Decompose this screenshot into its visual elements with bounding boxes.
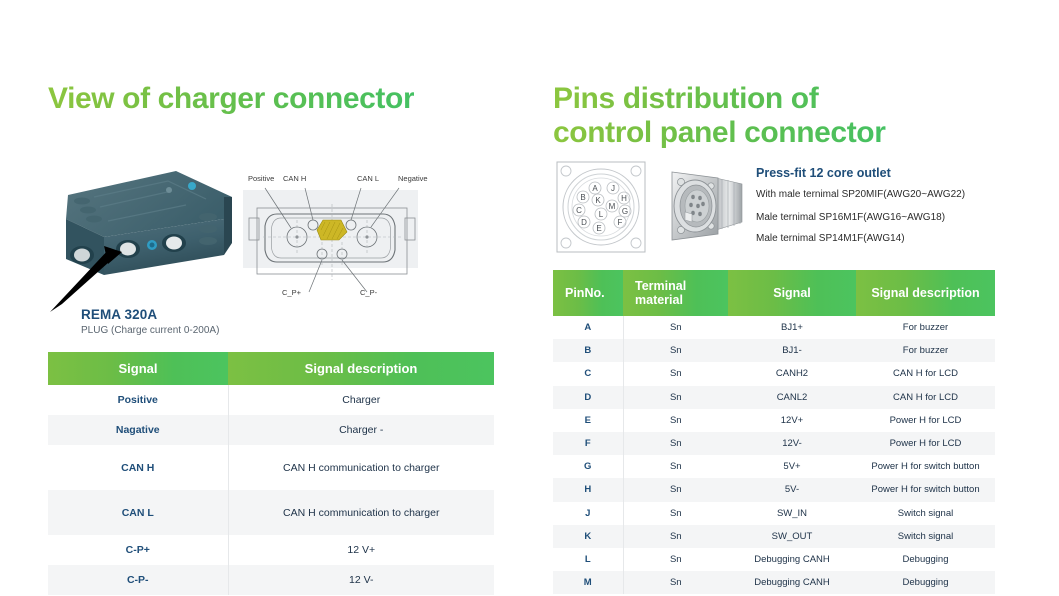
cell-signal: 12V+	[728, 409, 856, 432]
table-row: C Sn CANH2 CAN H for LCD	[553, 362, 995, 385]
cell-material: Sn	[623, 548, 728, 571]
cell-signal: CAN L	[48, 490, 228, 535]
drawing-label-negative: Negative	[398, 174, 428, 183]
table-row: A Sn BJ1+ For buzzer	[553, 316, 995, 339]
table-row: G Sn 5V+ Power H for switch button	[553, 455, 995, 478]
cell-description: For buzzer	[856, 316, 995, 339]
cell-signal: Nagative	[48, 415, 228, 445]
cell-material: Sn	[623, 339, 728, 362]
cell-signal: Debugging CANH	[728, 548, 856, 571]
cell-description: Power H for switch button	[856, 455, 995, 478]
col-header-pin-no: PinNo.	[553, 270, 623, 316]
svg-text:E: E	[596, 224, 601, 233]
cell-material: Sn	[623, 502, 728, 525]
table-header-row: Signal Signal description	[48, 352, 494, 385]
svg-text:F: F	[618, 218, 623, 227]
svg-text:A: A	[592, 184, 598, 193]
cell-description: Switch signal	[856, 502, 995, 525]
table-row: E Sn 12V+ Power H for LCD	[553, 409, 995, 432]
cell-pin-no: K	[553, 525, 623, 548]
pressfit-title: Press-fit 12 core outlet	[756, 166, 891, 180]
pressfit-line-2: Male ternimal SP16M1F(AWG16~AWG18)	[756, 212, 945, 223]
pressfit-line-3: Male ternimal SP14M1F(AWG14)	[756, 233, 905, 244]
control-panel-connector-photo	[662, 160, 754, 252]
table-header-row: PinNo. Terminal material Signal Signal d…	[553, 270, 995, 316]
cell-description: 12 V-	[228, 565, 494, 595]
cell-signal: BJ1+	[728, 316, 856, 339]
svg-text:B: B	[580, 193, 585, 202]
drawing-label-can-h: CAN H	[283, 174, 306, 183]
cell-signal: 5V-	[728, 478, 856, 501]
cell-material: Sn	[623, 478, 728, 501]
cell-description: CAN H communication to charger	[228, 490, 494, 535]
table-row: J Sn SW_IN Switch signal	[553, 502, 995, 525]
cell-pin-no: F	[553, 432, 623, 455]
cell-signal: 12V-	[728, 432, 856, 455]
cell-pin-no: C	[553, 362, 623, 385]
cell-pin-no: M	[553, 571, 623, 594]
svg-text:D: D	[581, 218, 587, 227]
table-row: L Sn Debugging CANH Debugging	[553, 548, 995, 571]
page-title-right: Pins distribution of control panel conne…	[553, 82, 886, 150]
cell-material: Sn	[623, 455, 728, 478]
cell-signal: 5V+	[728, 455, 856, 478]
control-panel-pin-layout-diagram: A J B H C G D F E K M L	[553, 158, 649, 256]
cell-signal: BJ1-	[728, 339, 856, 362]
cell-material: Sn	[623, 316, 728, 339]
cell-description: CAN H communication to charger	[228, 445, 494, 490]
table-row: B Sn BJ1- For buzzer	[553, 339, 995, 362]
cell-description: Power H for LCD	[856, 432, 995, 455]
connector-model-subtitle: PLUG (Charge current 0-200A)	[81, 325, 219, 336]
cell-description: 12 V+	[228, 535, 494, 565]
cell-description: Charger	[228, 385, 494, 415]
cell-material: Sn	[623, 432, 728, 455]
cell-pin-no: A	[553, 316, 623, 339]
drawing-label-can-l: CAN L	[357, 174, 379, 183]
cell-description: Switch signal	[856, 525, 995, 548]
svg-text:C: C	[576, 206, 582, 215]
cell-description: Debugging	[856, 548, 995, 571]
control-panel-pin-table: PinNo. Terminal material Signal Signal d…	[553, 270, 995, 594]
cell-material: Sn	[623, 362, 728, 385]
cell-description: Power H for switch button	[856, 478, 995, 501]
slide-root: View of charger connector Pins distribut…	[0, 0, 1059, 596]
drawing-label-cp-plus: C_P+	[282, 288, 301, 297]
svg-text:M: M	[609, 202, 616, 211]
drawing-label-cp-minus: C_P-	[360, 288, 377, 297]
cell-description: Debugging	[856, 571, 995, 594]
cell-pin-no: L	[553, 548, 623, 571]
col-header-signal-description: Signal description	[856, 270, 995, 316]
table-row: F Sn 12V- Power H for LCD	[553, 432, 995, 455]
svg-text:J: J	[611, 184, 615, 193]
cell-pin-no: G	[553, 455, 623, 478]
cell-description: CAN H for LCD	[856, 386, 995, 409]
svg-text:H: H	[621, 194, 627, 203]
drawing-label-positive: Positive	[248, 174, 274, 183]
cell-pin-no: H	[553, 478, 623, 501]
table-row: K Sn SW_OUT Switch signal	[553, 525, 995, 548]
cell-material: Sn	[623, 409, 728, 432]
cell-signal: C-P+	[48, 535, 228, 565]
table-row: CAN H CAN H communication to charger	[48, 445, 494, 490]
table-row: H Sn 5V- Power H for switch button	[553, 478, 995, 501]
cell-description: For buzzer	[856, 339, 995, 362]
col-header-signal: Signal	[48, 352, 228, 385]
pressfit-line-1: With male ternimal SP20MIF(AWG20~AWG22)	[756, 189, 965, 200]
cell-material: Sn	[623, 525, 728, 548]
cell-signal: CANL2	[728, 386, 856, 409]
col-header-signal: Signal	[728, 270, 856, 316]
cell-signal: CAN H	[48, 445, 228, 490]
table-row: C-P- 12 V-	[48, 565, 494, 595]
cell-pin-no: E	[553, 409, 623, 432]
cell-signal: C-P-	[48, 565, 228, 595]
cell-pin-no: J	[553, 502, 623, 525]
charger-signal-table: Signal Signal description Positive Charg…	[48, 352, 494, 595]
table-row: C-P+ 12 V+	[48, 535, 494, 565]
page-title-left: View of charger connector	[48, 82, 414, 116]
svg-text:K: K	[595, 196, 601, 205]
cell-description: Power H for LCD	[856, 409, 995, 432]
cell-signal: Positive	[48, 385, 228, 415]
cell-description: CAN H for LCD	[856, 362, 995, 385]
table-row: Positive Charger	[48, 385, 494, 415]
cell-signal: Debugging CANH	[728, 571, 856, 594]
cell-material: Sn	[623, 386, 728, 409]
col-header-terminal-material: Terminal material	[623, 270, 728, 316]
cell-pin-no: B	[553, 339, 623, 362]
table-row: M Sn Debugging CANH Debugging	[553, 571, 995, 594]
connector-model-title: REMA 320A	[81, 307, 157, 322]
cell-signal: CANH2	[728, 362, 856, 385]
col-header-signal-description: Signal description	[228, 352, 494, 385]
cell-signal: SW_IN	[728, 502, 856, 525]
table-row: D Sn CANL2 CAN H for LCD	[553, 386, 995, 409]
svg-text:L: L	[599, 210, 604, 219]
cell-material: Sn	[623, 571, 728, 594]
cell-description: Charger -	[228, 415, 494, 445]
table-row: Nagative Charger -	[48, 415, 494, 445]
cell-pin-no: D	[553, 386, 623, 409]
connector-pin-drawing	[243, 170, 423, 305]
svg-text:G: G	[622, 207, 628, 216]
table-row: CAN L CAN H communication to charger	[48, 490, 494, 535]
cell-signal: SW_OUT	[728, 525, 856, 548]
